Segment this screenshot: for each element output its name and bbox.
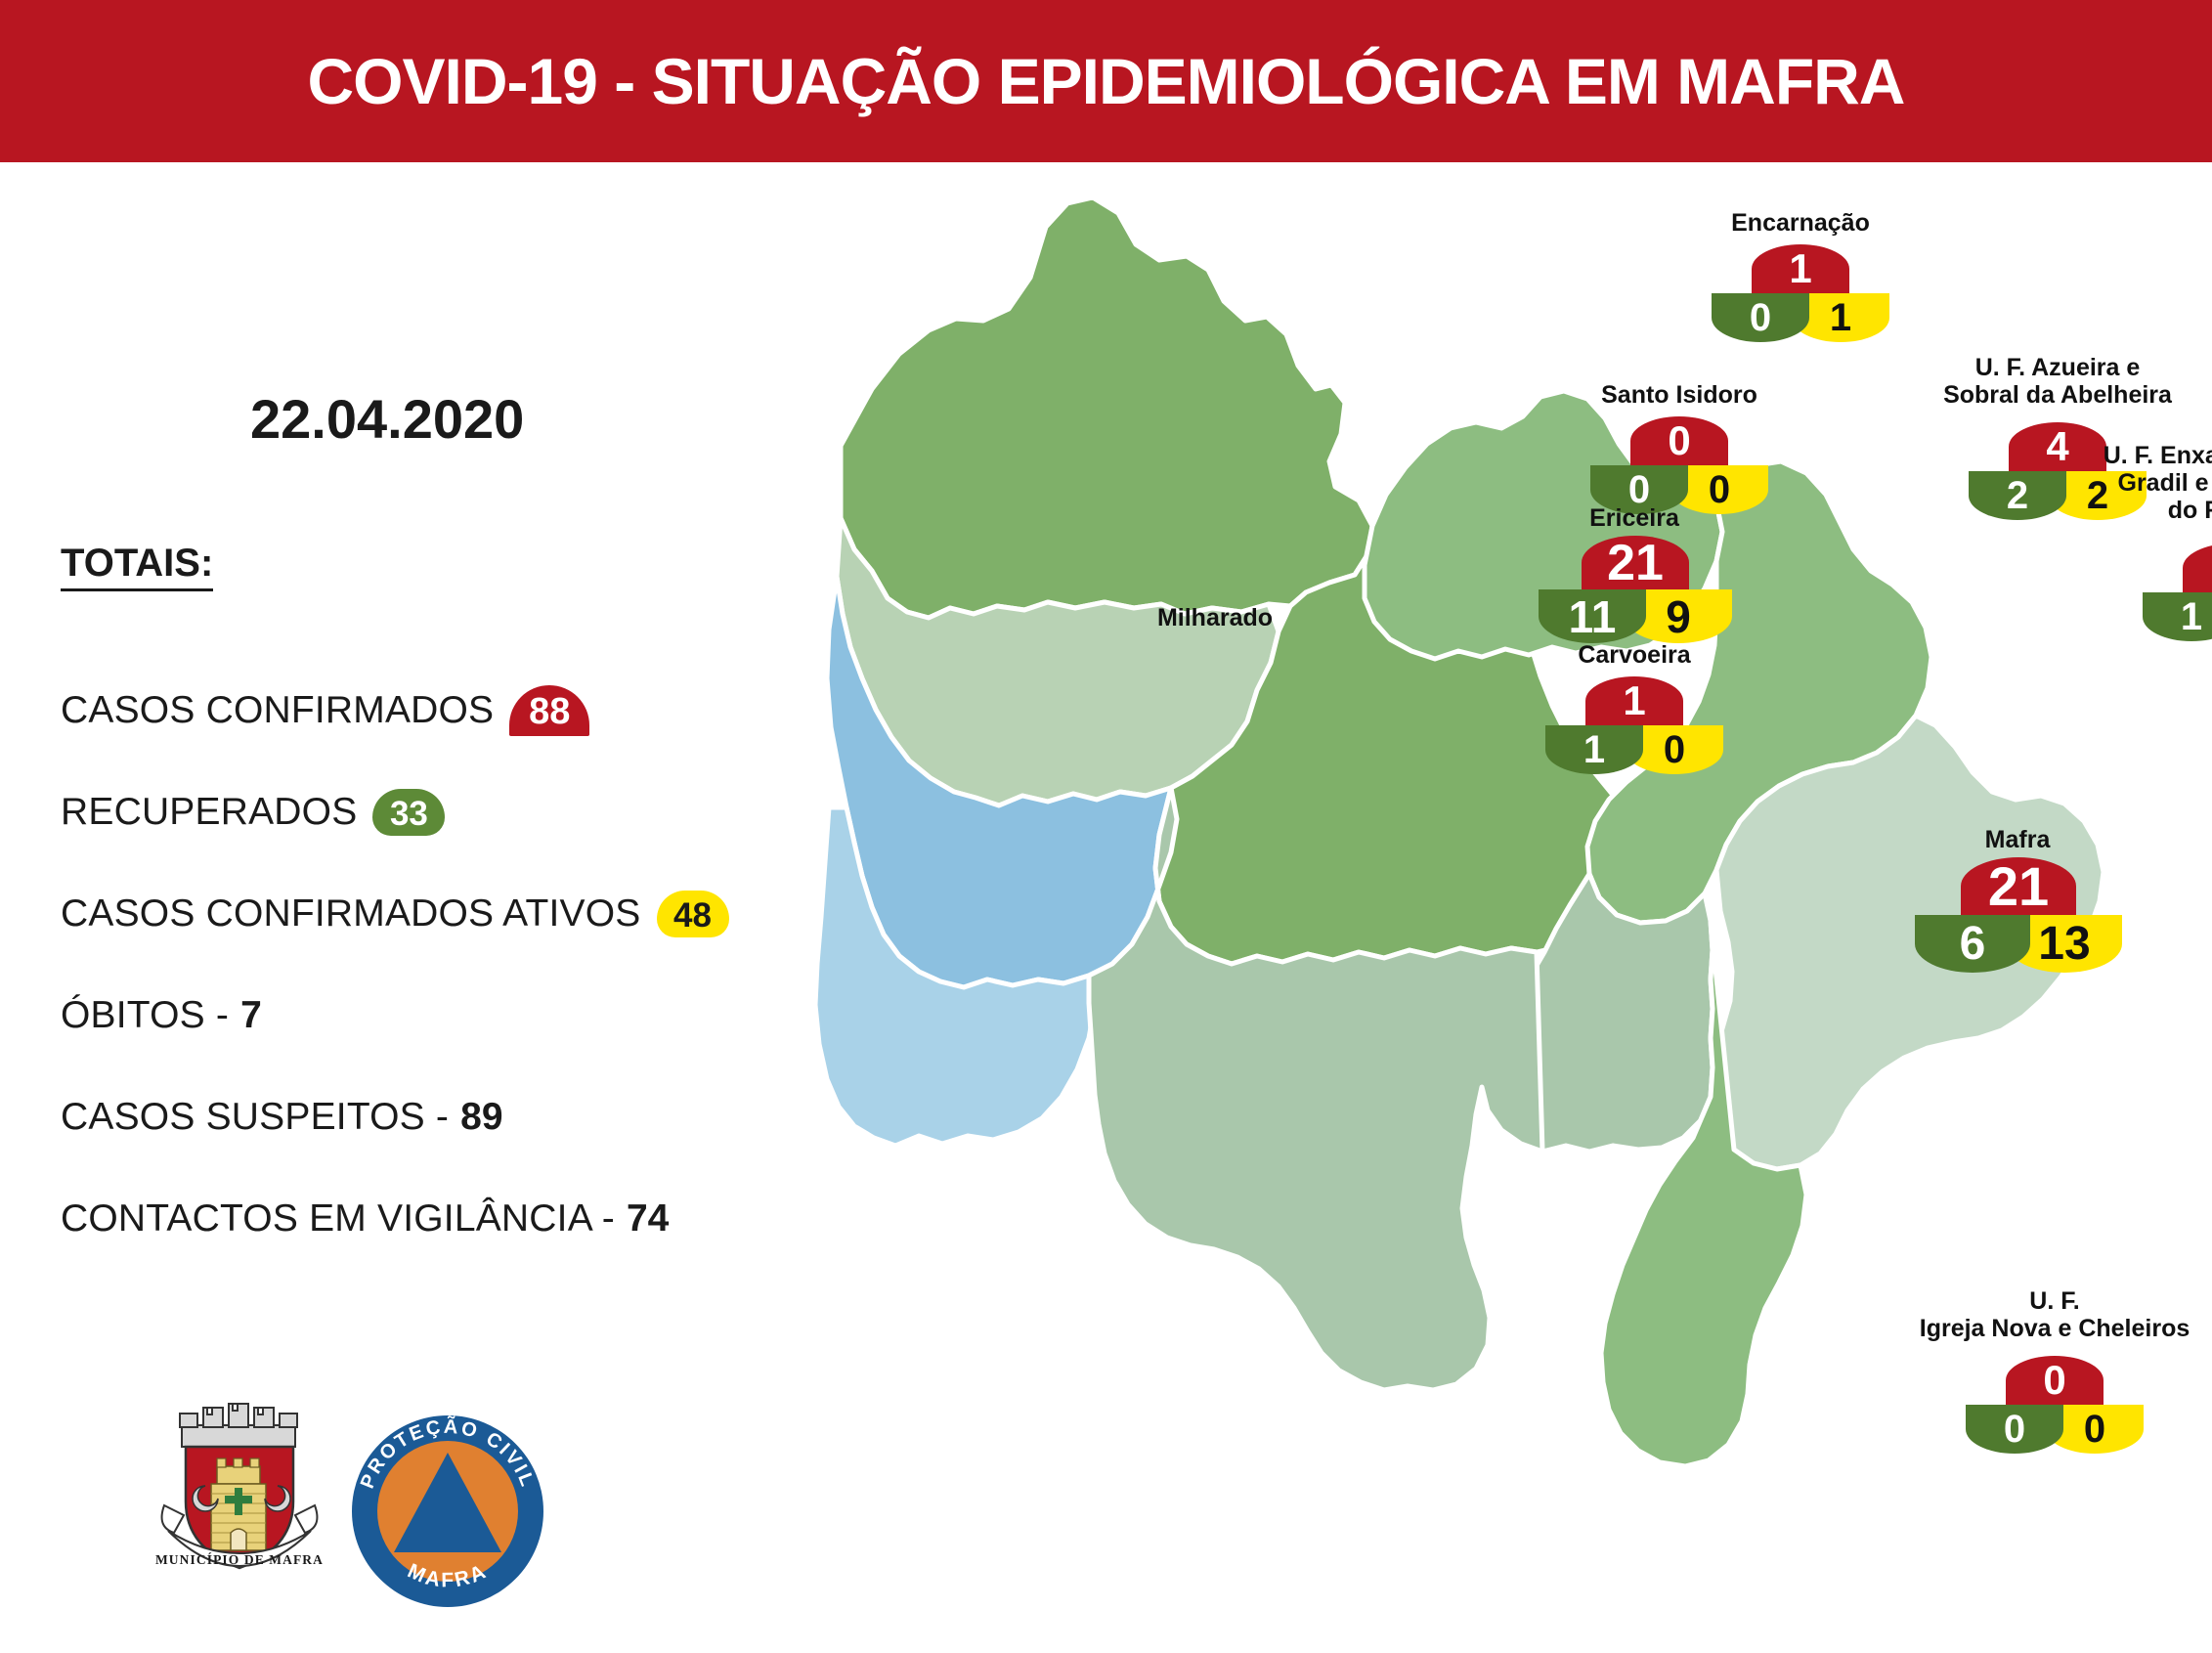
- count-confirmed-mafra: 21: [1961, 857, 2076, 915]
- count-confirmed-azueira-sobral: 4: [2009, 422, 2106, 471]
- marker-label-carvoeira: Carvoeira: [1578, 641, 1690, 669]
- stat-obitos: ÓBITOS - 7: [61, 985, 262, 1046]
- page-title: COVID-19 - SITUAÇÃO EPIDEMIOLÓGICA EM MA…: [0, 0, 2212, 162]
- count-recovered-enxara-gradil-vilafranca: 1: [2143, 592, 2212, 641]
- marker-carvoeira: Carvoeira 1 1 0: [1545, 641, 1723, 811]
- count-recovered-mafra: 6: [1915, 915, 2030, 973]
- status-badge-recuperados: 33: [372, 789, 445, 836]
- mafra-municipality-map: Milharado Encarnação 1 0 1 Santo Isidoro…: [782, 162, 2212, 1564]
- marker-igreja-nova-cheleiros: U. F. Igreja Nova e Cheleiros 0 0 0: [1966, 1287, 2144, 1491]
- page-header: COVID-19 - SITUAÇÃO EPIDEMIOLÓGICA EM MA…: [0, 0, 2212, 162]
- status-badge-casos-ativos: 48: [657, 891, 729, 937]
- stat-label-obitos: ÓBITOS -: [61, 994, 229, 1037]
- report-date: 22.04.2020: [250, 387, 524, 451]
- stat-casos-ativos: CASOS CONFIRMADOS ATIVOS 48: [61, 884, 729, 944]
- municipio-de-mafra-logo: MUNICÍPIO DE MAFRA: [155, 1404, 324, 1568]
- stat-casos-suspeitos: CASOS SUSPEITOS - 89: [61, 1087, 503, 1148]
- stat-label-recuperados: RECUPERADOS: [61, 791, 357, 834]
- stat-label-casos-suspeitos: CASOS SUSPEITOS -: [61, 1096, 449, 1139]
- municipio-logo-caption: MUNICÍPIO DE MAFRA: [155, 1552, 324, 1567]
- marker-label-azueira-sobral: U. F. Azueira e Sobral da Abelheira: [1943, 354, 2172, 409]
- marker-label-santo-isidoro: Santo Isidoro: [1601, 381, 1757, 409]
- totals-heading: TOTAIS:: [61, 542, 213, 591]
- stat-contactos-vigilancia: CONTACTOS EM VIGILÂNCIA - 74: [61, 1189, 669, 1249]
- milharado-region-label: Milharado: [1157, 604, 1273, 631]
- statistics-sidebar: 22.04.2020 TOTAIS: CASOS CONFIRMADOS 88 …: [0, 162, 782, 1564]
- marker-graphic-mafra: 21 6 13: [1915, 857, 2120, 1014]
- count-confirmed-carvoeira: 1: [1585, 676, 1683, 725]
- stat-value-casos-suspeitos: 89: [460, 1096, 502, 1139]
- marker-label-enxara-gradil-vilafranca: U. F. Enxara do Bispo, Gradil e Vila Fra…: [2104, 442, 2212, 524]
- logo-row: MUNICÍPIO DE MAFRA PROTEÇÃO CIVIL MAFRA: [147, 1384, 557, 1648]
- marker-mafra: Mafra 21 6 13: [1915, 826, 2120, 1014]
- marker-graphic-igreja-nova-cheleiros: 0 0 0: [1966, 1356, 2144, 1491]
- count-recovered-azueira-sobral: 2: [1969, 471, 2066, 520]
- marker-graphic-enxara-gradil-vilafranca: 1 1 0: [2143, 544, 2212, 678]
- count-confirmed-ericeira: 21: [1582, 536, 1689, 589]
- count-recovered-carvoeira: 1: [1545, 725, 1643, 774]
- protecao-civil-mafra-logo: PROTEÇÃO CIVIL MAFRA: [352, 1415, 543, 1607]
- stat-recuperados: RECUPERADOS 33: [61, 782, 445, 843]
- stat-label-contactos-vigilancia: CONTACTOS EM VIGILÂNCIA -: [61, 1197, 615, 1240]
- stat-casos-confirmados: CASOS CONFIRMADOS 88: [61, 680, 589, 741]
- marker-label-ericeira: Ericeira: [1589, 504, 1679, 532]
- count-confirmed-enxara-gradil-vilafranca: 1: [2183, 544, 2212, 592]
- count-confirmed-santo-isidoro: 0: [1630, 416, 1728, 465]
- count-recovered-ericeira: 11: [1539, 589, 1646, 643]
- stat-value-contactos-vigilancia: 74: [627, 1197, 669, 1240]
- stat-label-casos-ativos: CASOS CONFIRMADOS ATIVOS: [61, 892, 641, 935]
- region-encarnacao: [841, 197, 1372, 618]
- marker-encarnacao: Encarnação 1 0 1: [1712, 209, 1889, 379]
- marker-label-igreja-nova-cheleiros: U. F. Igreja Nova e Cheleiros: [1920, 1287, 2190, 1342]
- count-confirmed-encarnacao: 1: [1752, 244, 1849, 293]
- marker-graphic-carvoeira: 1 1 0: [1545, 676, 1723, 811]
- status-badge-casos-confirmados: 88: [509, 685, 589, 736]
- count-recovered-igreja-nova-cheleiros: 0: [1966, 1405, 2063, 1454]
- marker-label-encarnacao: Encarnação: [1731, 209, 1870, 237]
- marker-graphic-encarnacao: 1 0 1: [1712, 244, 1889, 379]
- marker-label-mafra: Mafra: [1985, 826, 2051, 853]
- marker-enxara-gradil-vilafranca: U. F. Enxara do Bispo, Gradil e Vila Fra…: [2143, 442, 2212, 678]
- stat-label-casos-confirmados: CASOS CONFIRMADOS: [61, 689, 494, 732]
- stat-value-obitos: 7: [240, 994, 262, 1037]
- count-recovered-encarnacao: 0: [1712, 293, 1809, 342]
- count-confirmed-igreja-nova-cheleiros: 0: [2006, 1356, 2104, 1405]
